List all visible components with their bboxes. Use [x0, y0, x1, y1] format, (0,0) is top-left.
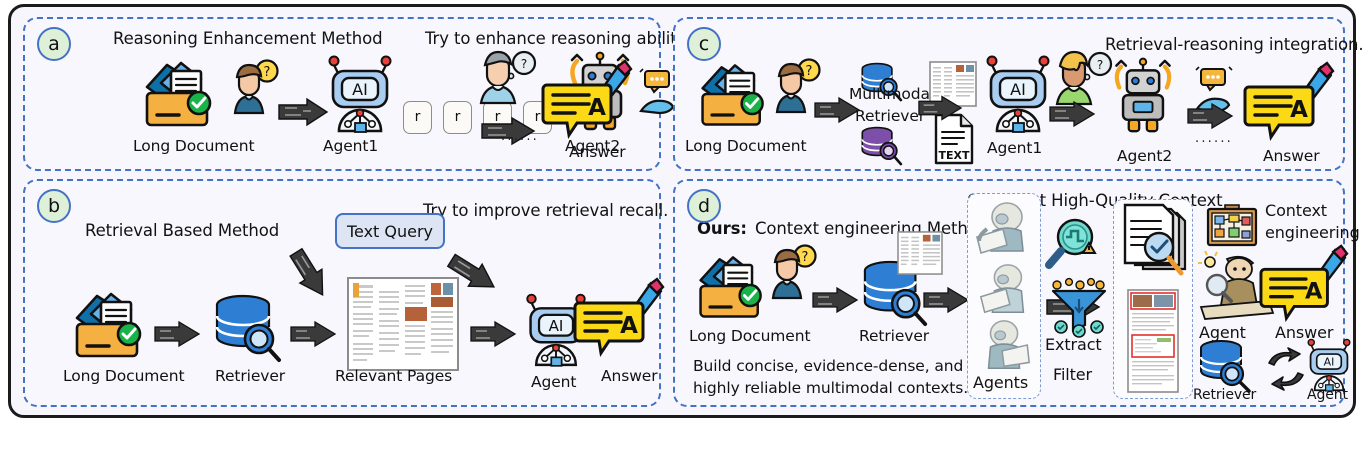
caption-agent1: Agent1 [987, 139, 1042, 157]
agent-robot-reading-icon-2 [975, 261, 1035, 319]
svg-text:A: A [1305, 279, 1323, 305]
filter-funnel-icon [1049, 279, 1109, 337]
panel-a-badge: a [37, 27, 71, 61]
svg-text:AI: AI [549, 317, 564, 335]
arrow-icon [281, 249, 337, 301]
panel-b-title: Retrieval Based Method [85, 221, 279, 240]
panel-d-badge: d [687, 189, 721, 223]
multimodal-retriever-purple-icon [859, 125, 905, 167]
arrow-icon [1047, 101, 1097, 127]
svg-text:?: ? [802, 250, 809, 265]
svg-text:A: A [1290, 97, 1308, 123]
panel-d-description-line2: highly reliable multimodal contexts. [693, 379, 968, 397]
caption-filter: Filter [1053, 365, 1092, 384]
panel-c-ellipsis: ...... [1195, 131, 1233, 146]
svg-text:?: ? [264, 65, 271, 80]
panel-b-goal: Try to improve retrieval recall. [423, 201, 668, 220]
caption-relevant-pages: Relevant Pages [335, 367, 452, 385]
thinking-person-icon: ? [475, 49, 537, 105]
answer-icon: A [541, 59, 631, 139]
agent2-robot-icon [1107, 59, 1179, 135]
caption-answer: Answer [601, 367, 658, 385]
reasoning-token-1: r [443, 101, 472, 134]
panel-a-goal: Try to enhance reasoning ability. [425, 29, 689, 48]
agent1-robot-icon: AI [325, 53, 395, 135]
svg-text:?: ? [806, 64, 813, 79]
panel-a-title: Reasoning Enhancement Method [113, 29, 383, 48]
retriever-icon [211, 293, 287, 363]
thinking-person-icon: ? [1051, 49, 1113, 107]
panel-d-context-engineering: d Ours: Context engineering Method Const… [673, 179, 1345, 407]
user-question-icon: ? [229, 59, 281, 115]
panel-d-description-line1: Build concise, evidence-dense, and [693, 357, 963, 375]
panel-c-retrieval-reasoning: c Retrieval-reasoning integration. ? [673, 17, 1345, 171]
caption-agent-loop: Agent [1307, 387, 1348, 403]
caption-retriever: Retriever [215, 367, 285, 385]
svg-text:AI: AI [352, 80, 368, 99]
arrow-icon [277, 97, 329, 127]
caption-long-document: Long Document [133, 137, 254, 155]
svg-text:AI: AI [1324, 356, 1335, 369]
agent-robot-icon: AI [1305, 337, 1353, 393]
panel-c-goal: Retrieval-reasoning integration. [1105, 35, 1364, 54]
caption-long-document: Long Document [63, 367, 184, 385]
caption-answer-a: Answer [569, 143, 626, 161]
long-document-icon [693, 59, 775, 129]
answer-icon: A [1259, 243, 1347, 323]
panel-a-reasoning-enhancement: a Reasoning Enhancement Method Try to en… [23, 17, 661, 171]
svg-text:TEXT: TEXT [938, 149, 969, 162]
svg-text:?: ? [1097, 58, 1103, 72]
caption-agents: Agents [973, 373, 1028, 392]
caption-agent1: Agent1 [323, 137, 378, 155]
answer-icon: A [573, 277, 663, 357]
answer-icon: A [1243, 61, 1333, 141]
arrow-icon [289, 321, 337, 347]
svg-text:AI: AI [1010, 80, 1026, 99]
context-page-preview-icon [1127, 289, 1179, 393]
svg-text:?: ? [521, 57, 527, 71]
arrow-icon [153, 321, 201, 347]
retriever-loop-icon [1197, 339, 1257, 393]
verified-documents-icon [1117, 203, 1191, 279]
long-document-icon [67, 287, 153, 361]
figure-container: a Reasoning Enhancement Method Try to en… [8, 4, 1356, 418]
sync-loop-icon [1263, 349, 1309, 391]
retrieved-pages-icon [897, 231, 943, 275]
long-document-icon [137, 57, 223, 129]
long-document-icon [691, 251, 773, 321]
caption-agent: Agent [531, 373, 576, 391]
caption-agent2: Agent2 [1117, 147, 1172, 165]
caption-multimodal-line2: Retriever [855, 107, 925, 125]
context-engineering-board-icon [1205, 201, 1259, 249]
caption-context-engineering-line1: Context [1265, 201, 1327, 220]
agent1-robot-icon: AI [983, 53, 1053, 135]
reasoning-token-0: r [403, 101, 432, 134]
panel-c-badge: c [687, 27, 721, 61]
caption-retriever-loop: Retriever [1193, 387, 1256, 403]
caption-retriever: Retriever [859, 327, 929, 345]
panel-d-title: Context engineering Method [755, 219, 988, 238]
caption-long-document: Long Document [689, 327, 810, 345]
extract-magnifier-icon [1043, 215, 1105, 273]
caption-answer: Answer [1263, 147, 1320, 165]
caption-long-document: Long Document [685, 137, 806, 155]
text-query-box[interactable]: Text Query [335, 213, 445, 249]
arrow-icon [811, 287, 859, 313]
svg-text:A: A [620, 313, 638, 339]
svg-text:A: A [588, 95, 606, 121]
arrow-icon [1183, 103, 1237, 129]
panel-a-ellipsis: ...... [501, 129, 539, 144]
arrow-icon [917, 95, 963, 121]
agent-robot-reading-icon-1 [973, 199, 1035, 257]
arrow-icon [921, 287, 971, 313]
panel-b-retrieval-based: b Retrieval Based Method Try to improve … [23, 179, 661, 407]
caption-context-engineering-line2: engineering [1265, 223, 1360, 242]
panel-b-badge: b [37, 189, 71, 223]
caption-extract: Extract [1045, 335, 1102, 354]
arrow-icon [469, 321, 517, 347]
relevant-pages-icon [347, 277, 459, 371]
agent-robot-reading-icon-3 [975, 317, 1035, 375]
